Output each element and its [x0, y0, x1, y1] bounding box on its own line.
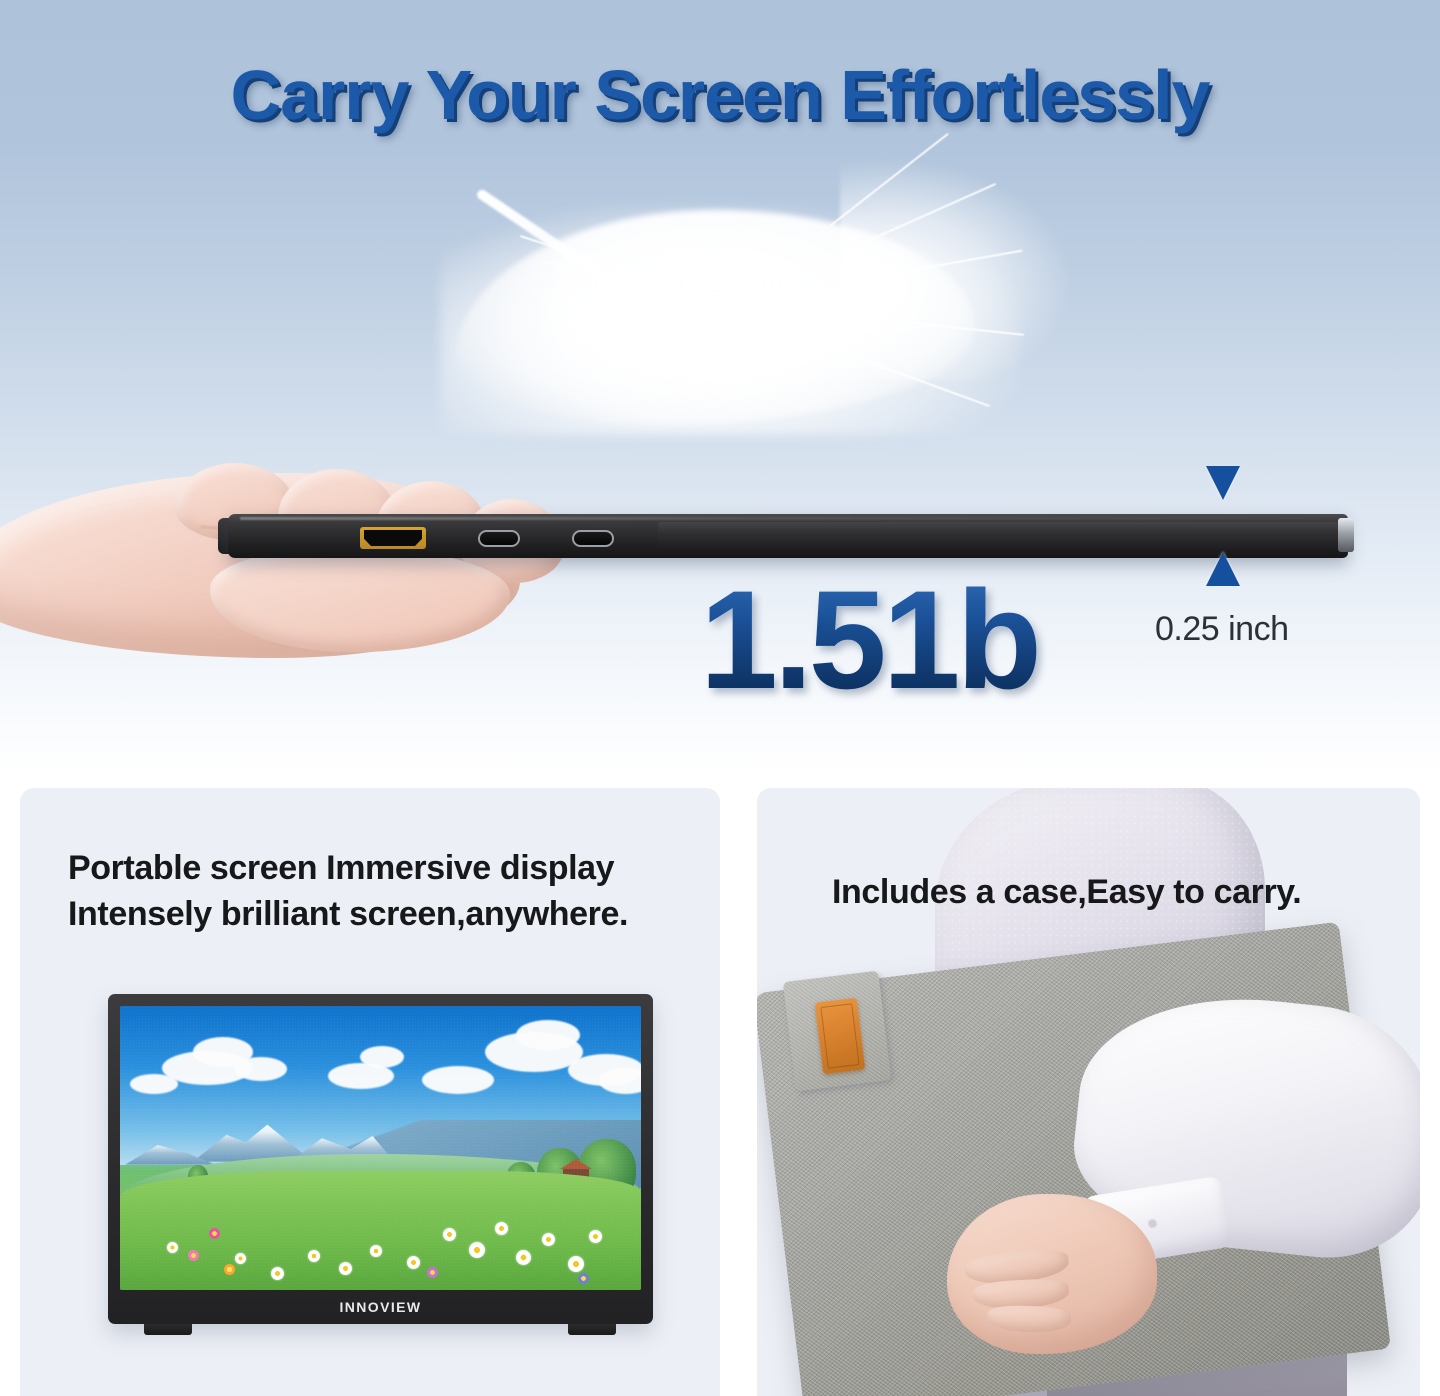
panel-right-caption: Includes a case,Easy to carry.	[832, 873, 1301, 912]
monitor-foot-right	[568, 1324, 616, 1335]
monitor-screen	[120, 1006, 641, 1290]
hero-section: Carry Your Screen Effortlessly	[0, 0, 1440, 772]
monitor-foot-left	[144, 1324, 192, 1335]
panel-includes-case: Includes a case,Easy to carry.	[757, 788, 1420, 1396]
case-leather-tab-icon	[815, 998, 865, 1075]
feather-plume	[840, 160, 1070, 380]
panel-left-caption-line2: Intensely brilliant screen,anywhere.	[68, 892, 628, 938]
cuff-button-icon	[1149, 1220, 1156, 1227]
hand-holding-icon	[0, 455, 600, 705]
person-hand	[947, 1194, 1157, 1354]
arrow-up-icon	[1206, 552, 1240, 586]
page-title: Carry Your Screen Effortlessly	[0, 55, 1440, 135]
portable-monitor-icon: INNOVIEW	[108, 994, 653, 1344]
portable-monitor-edge	[228, 508, 1348, 562]
feather-shaft	[475, 188, 630, 297]
weight-value: 1.51b	[700, 570, 1038, 710]
hdmi-port-icon	[360, 527, 426, 549]
thickness-value: 0.25 inch	[1155, 610, 1289, 649]
edge-taper	[658, 522, 1348, 550]
panel-left-caption-line1: Portable screen Immersive display	[68, 846, 628, 892]
edge-highlight	[240, 517, 1320, 520]
usb-c-port-icon	[572, 530, 614, 547]
edge-right-cap	[1338, 518, 1354, 552]
monitor-body: INNOVIEW	[108, 994, 653, 1324]
screen-meadow	[120, 1171, 641, 1290]
feather-icon	[400, 165, 1060, 465]
panel-left-caption: Portable screen Immersive display Intens…	[68, 846, 628, 938]
usb-c-port-icon	[478, 530, 520, 547]
arrow-down-icon	[1206, 466, 1240, 500]
panel-portable-screen: Portable screen Immersive display Intens…	[20, 788, 720, 1396]
monitor-brand-logo: INNOVIEW	[108, 1299, 653, 1315]
feather-body	[455, 210, 975, 425]
feather-glow	[440, 205, 1020, 435]
feature-panels: Portable screen Immersive display Intens…	[0, 772, 1440, 1396]
